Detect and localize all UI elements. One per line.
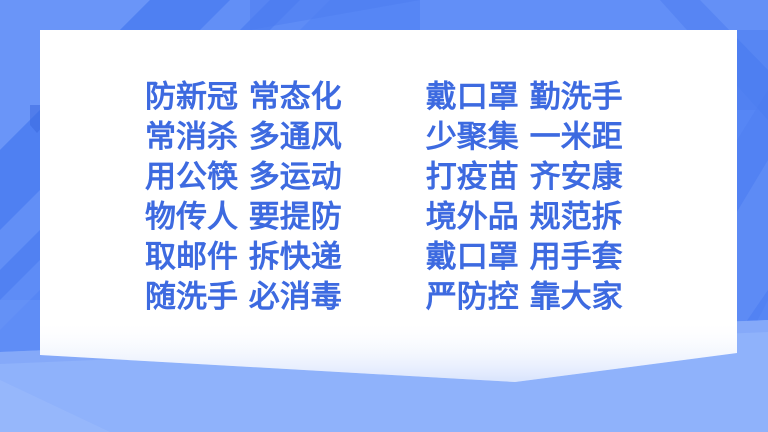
slogan-line: 戴口罩 用手套: [426, 237, 623, 277]
slogan-line: 用公筷 多运动: [145, 157, 342, 197]
slogan-line: 物传人 要提防: [145, 197, 342, 237]
slogan-area: 防新冠 常态化 常消杀 多通风 用公筷 多运动 物传人 要提防 取邮件 拆快递 …: [40, 30, 737, 355]
diagonal-facet-right-c: [737, 30, 768, 110]
slogan-column-left: 防新冠 常态化 常消杀 多通风 用公筷 多运动 物传人 要提防 取邮件 拆快递 …: [145, 77, 342, 317]
slogan-line: 打疫苗 齐安康: [426, 157, 623, 197]
slogan-line: 常消杀 多通风: [145, 117, 342, 157]
slogan-line: 戴口罩 勤洗手: [426, 77, 623, 117]
slogan-line: 随洗手 必消毒: [145, 277, 342, 317]
slogan-line: 取邮件 拆快递: [145, 237, 342, 277]
slogan-line: 境外品 规范拆: [426, 197, 623, 237]
slogan-line: 严防控 靠大家: [426, 277, 623, 317]
slogan-line: 防新冠 常态化: [145, 77, 342, 117]
poster-canvas: 防新冠 常态化 常消杀 多通风 用公筷 多运动 物传人 要提防 取邮件 拆快递 …: [0, 0, 768, 432]
slogan-line: 少聚集 一米距: [426, 117, 623, 157]
slogan-column-right: 戴口罩 勤洗手 少聚集 一米距 打疫苗 齐安康 境外品 规范拆 戴口罩 用手套 …: [426, 77, 623, 317]
